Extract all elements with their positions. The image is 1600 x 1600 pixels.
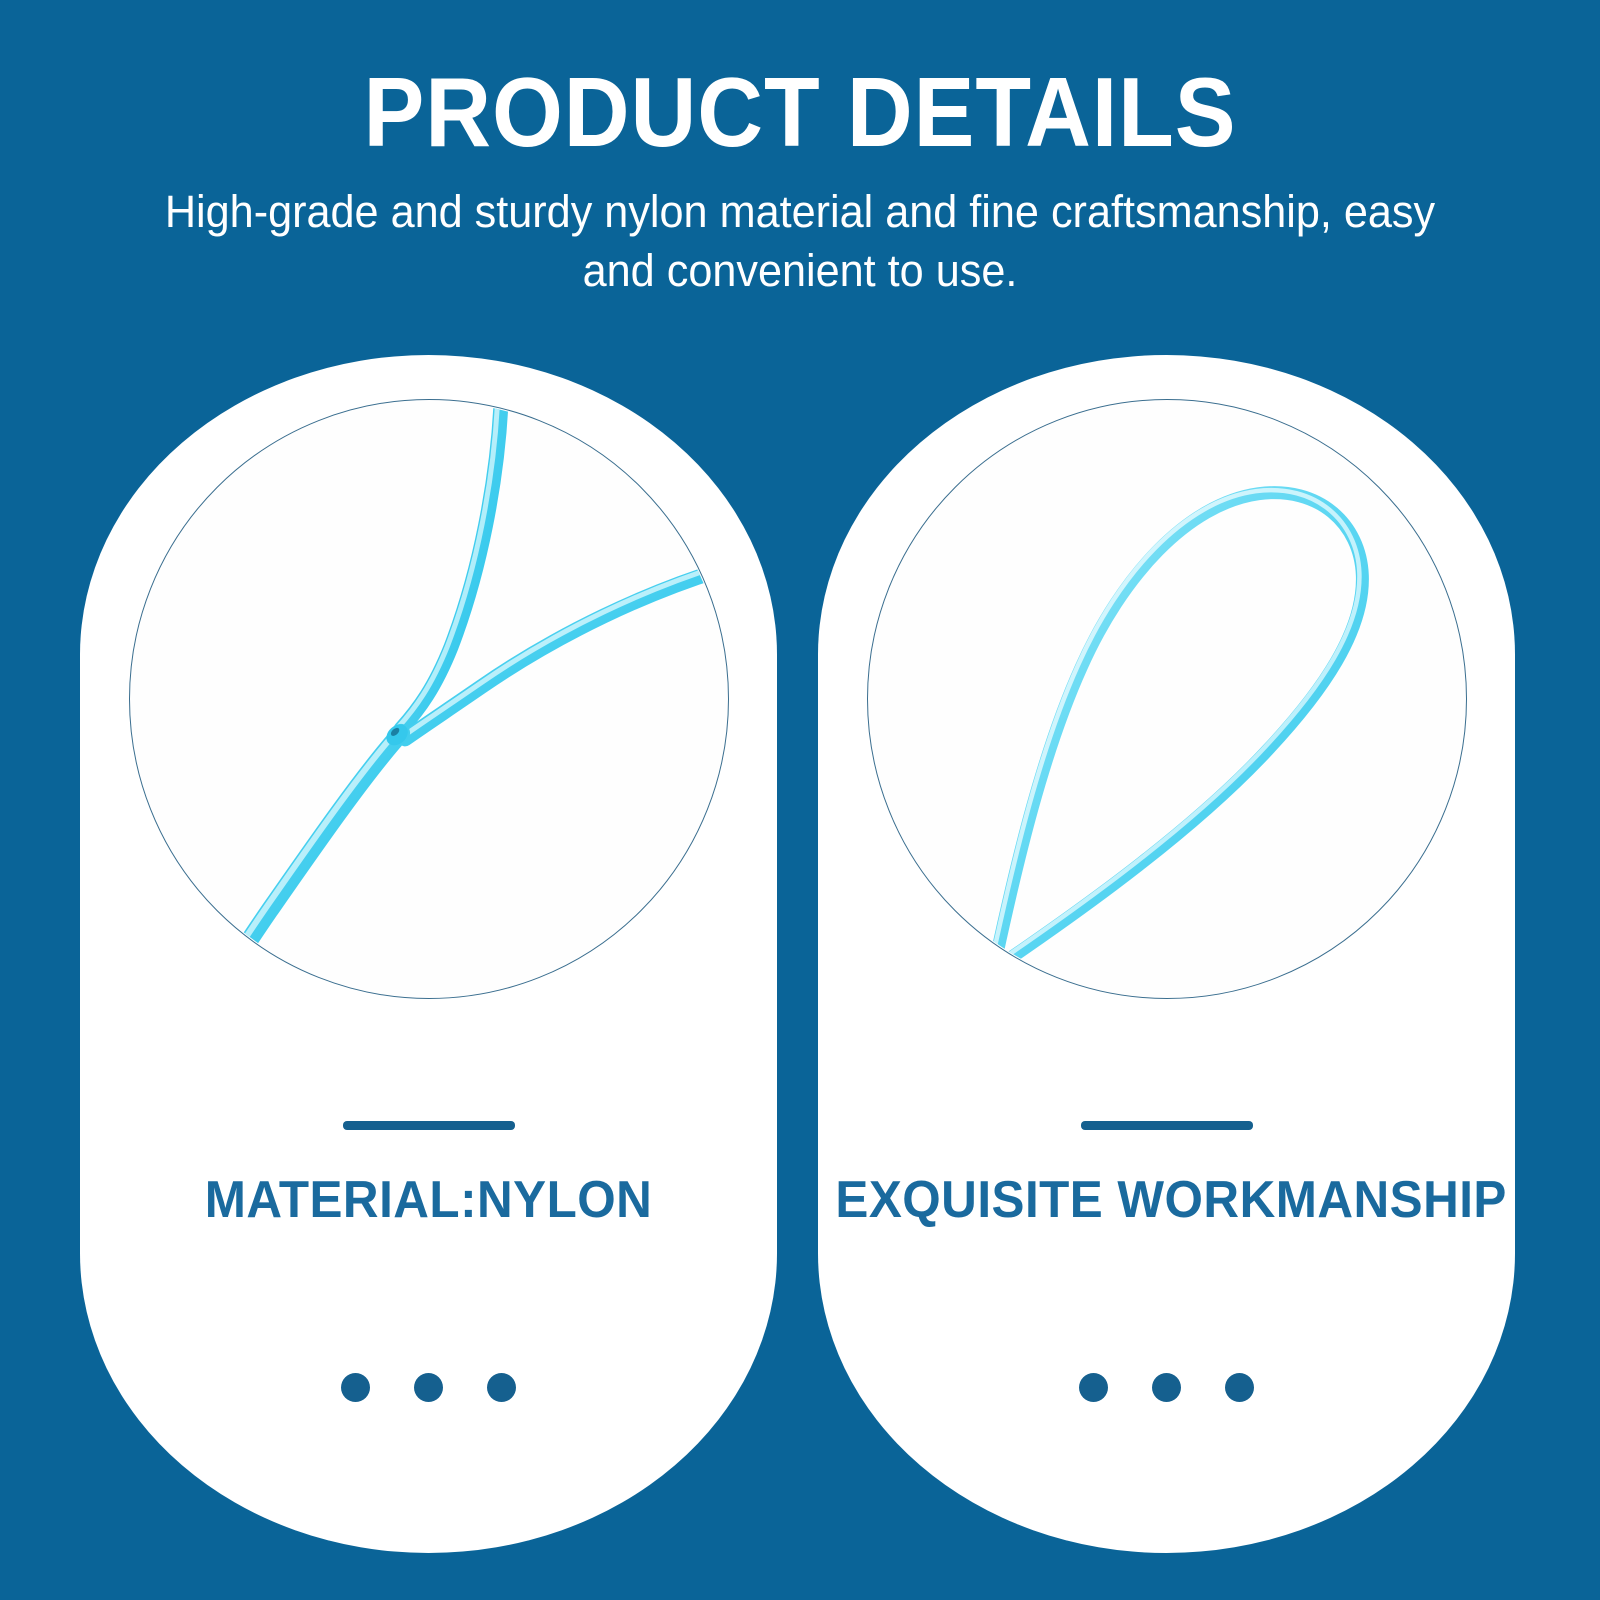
- dot-indicator: [414, 1373, 443, 1402]
- card-caption-material: MATERIAL:NYLON: [97, 1170, 759, 1230]
- card-dots-workmanship: [818, 1373, 1515, 1402]
- caption-accent-bar: [1081, 1121, 1253, 1130]
- dot-indicator: [341, 1373, 370, 1402]
- nylon-cord-loop-icon: [868, 400, 1466, 998]
- feature-card-workmanship: EXQUISITE WORKMANSHIP: [818, 355, 1515, 1553]
- product-photo-material: [129, 399, 729, 999]
- page-title: PRODUCT DETAILS: [56, 0, 1544, 164]
- feature-card-material: MATERIAL:NYLON: [80, 355, 777, 1553]
- card-caption-workmanship: EXQUISITE WORKMANSHIP: [835, 1170, 1497, 1230]
- feature-cards-row: MATERIAL:NYLON: [80, 355, 1520, 1555]
- product-details-poster: PRODUCT DETAILS High-grade and sturdy ny…: [0, 0, 1600, 1600]
- caption-accent-bar: [343, 1121, 515, 1130]
- product-photo-workmanship: [867, 399, 1467, 999]
- page-subtitle: High-grade and sturdy nylon material and…: [128, 164, 1472, 301]
- poster-header: PRODUCT DETAILS High-grade and sturdy ny…: [0, 0, 1600, 301]
- dot-indicator: [1225, 1373, 1254, 1402]
- nylon-cord-split-strands-icon: [130, 400, 728, 998]
- dot-indicator: [1079, 1373, 1108, 1402]
- card-dots-material: [80, 1373, 777, 1402]
- dot-indicator: [1152, 1373, 1181, 1402]
- dot-indicator: [487, 1373, 516, 1402]
